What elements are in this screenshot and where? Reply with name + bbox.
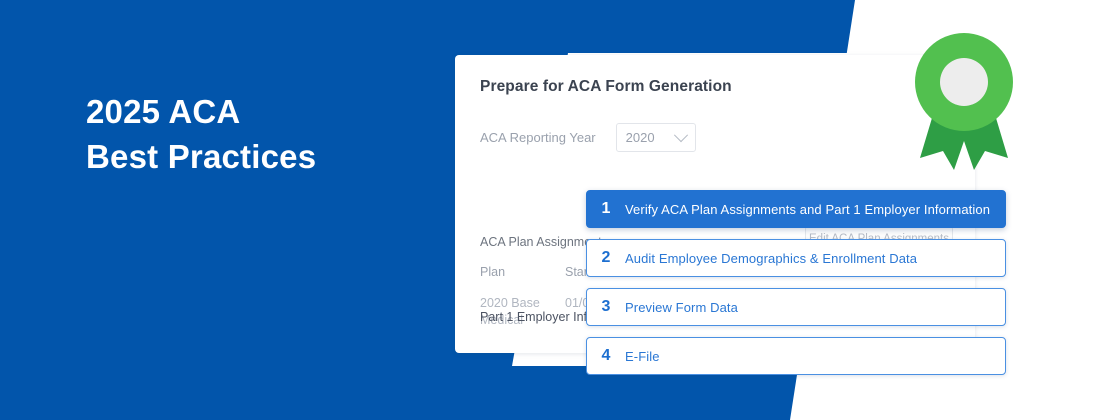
page-title: 2025 ACA Best Practices xyxy=(86,90,316,180)
step-number: 4 xyxy=(587,347,625,365)
column-header-plan: Plan xyxy=(480,265,565,279)
reporting-year-select[interactable]: 2020 xyxy=(616,123,696,152)
reporting-year-value: 2020 xyxy=(626,130,655,145)
step-item-3[interactable]: 3 Preview Form Data xyxy=(586,288,1006,326)
reporting-year-label: ACA Reporting Year xyxy=(480,130,596,145)
step-item-4[interactable]: 4 E-File xyxy=(586,337,1006,375)
step-item-2[interactable]: 2 Audit Employee Demographics & Enrollme… xyxy=(586,239,1006,277)
reporting-year-field: ACA Reporting Year 2020 xyxy=(480,123,696,152)
step-number: 1 xyxy=(587,200,625,218)
step-item-1[interactable]: 1 Verify ACA Plan Assignments and Part 1… xyxy=(586,190,1006,228)
step-number: 2 xyxy=(587,249,625,267)
step-number: 3 xyxy=(587,298,625,316)
step-label: Preview Form Data xyxy=(625,300,738,315)
award-ribbon-icon xyxy=(912,30,1016,170)
card-title: Prepare for ACA Form Generation xyxy=(480,78,732,96)
step-label: Verify ACA Plan Assignments and Part 1 E… xyxy=(625,202,990,217)
step-label: E-File xyxy=(625,349,660,364)
step-list: 1 Verify ACA Plan Assignments and Part 1… xyxy=(586,190,1006,386)
chevron-down-icon xyxy=(674,128,688,142)
step-label: Audit Employee Demographics & Enrollment… xyxy=(625,251,917,266)
promo-banner-stage: 2025 ACA Best Practices Prepare for ACA … xyxy=(0,0,1100,420)
